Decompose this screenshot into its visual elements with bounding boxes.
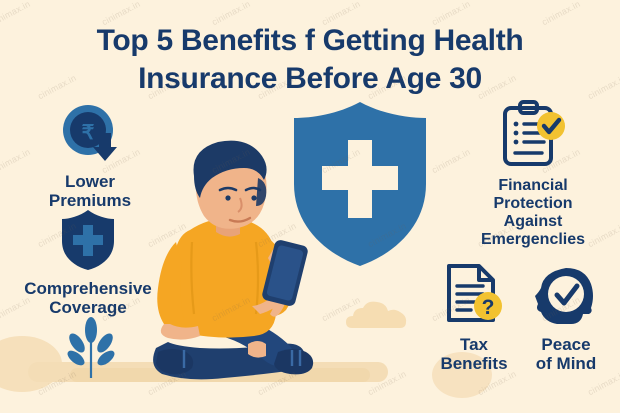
benefit-label-line-1: Comprehensive [2, 279, 174, 298]
benefit-label-line-2: of Mind [518, 354, 614, 373]
leaf-sprig-icon [62, 316, 120, 383]
benefit-lower-premiums[interactable]: ₹ Lower Premiums [14, 103, 166, 210]
cloud-shape-icon [344, 300, 418, 335]
svg-text:₹: ₹ [82, 122, 95, 144]
benefit-label-line-1: Financial [458, 177, 608, 195]
svg-text:?: ? [482, 296, 495, 319]
title-line-1: Top 5 Benefits f Getting Health [97, 24, 524, 57]
benefit-tax-benefits[interactable]: ? Tax Benefits [424, 262, 524, 373]
benefit-peace-of-mind[interactable]: Peace of Mind [518, 266, 614, 373]
page-title: Top 5 Benefits f Getting Health Insuranc… [60, 22, 560, 99]
rupee-down-arrow-icon: ₹ [14, 103, 166, 169]
document-question-icon: ? [424, 262, 524, 332]
benefit-label-line-4: Emergenclies [458, 231, 608, 249]
watermark-text: cinimax.in [0, 0, 32, 27]
benefit-label-line-1: Lower [14, 172, 166, 191]
benefit-label-line-2: Benefits [424, 354, 524, 373]
infographic-canvas: Top 5 Benefits f Getting Health Insuranc… [0, 0, 620, 413]
shield-cross-icon [2, 208, 174, 276]
benefit-label-line-2: Coverage [2, 298, 174, 317]
benefit-label-line-3: Against [458, 213, 608, 231]
benefit-label-line-1: Peace [518, 335, 614, 354]
head-check-icon [518, 266, 614, 332]
clipboard-check-icon [458, 100, 608, 174]
benefit-label-line-2: Protection [458, 195, 608, 213]
benefit-financial-protection[interactable]: Financial Protection Against Emergenclie… [458, 100, 608, 249]
watermark-text: cinimax.in [586, 73, 620, 102]
title-line-2: Insurance Before Age 30 [60, 60, 560, 98]
benefit-label-line-1: Tax [424, 335, 524, 354]
benefit-comprehensive-coverage[interactable]: Comprehensive Coverage [2, 208, 174, 317]
